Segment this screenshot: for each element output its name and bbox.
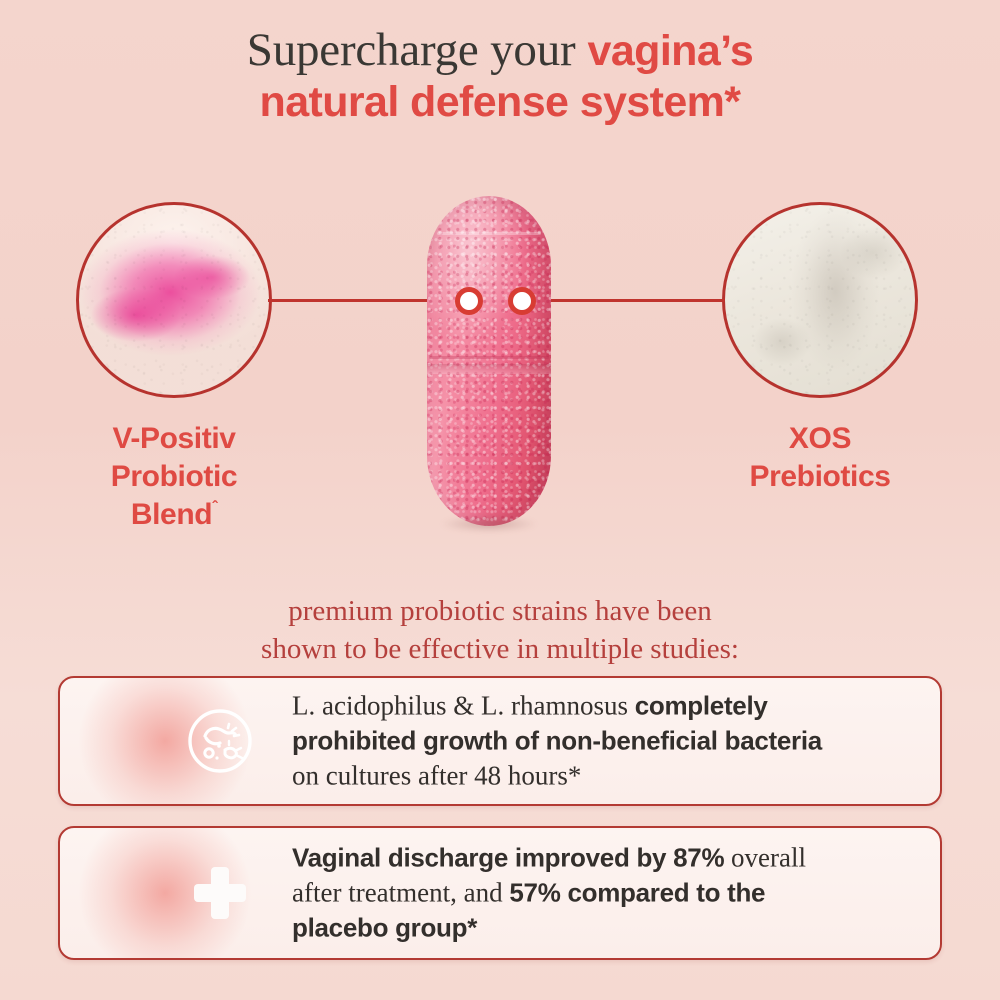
fact-card-text: Vaginal discharge improved by 87% overal… xyxy=(292,840,918,945)
fact-line: L. acidophilus & L. rhamnosus completely xyxy=(292,688,918,723)
fact-line: Vaginal discharge improved by 87% overal… xyxy=(292,840,918,875)
xos-prebiotic-image xyxy=(722,202,918,398)
headline-line-1: Supercharge your vagina’s xyxy=(0,26,1000,76)
fact-line: on cultures after 48 hours* xyxy=(292,759,918,794)
connector-line-right xyxy=(534,299,724,302)
probiotic-label-line-1: V-Positiv xyxy=(112,422,235,455)
cross-shape xyxy=(194,867,246,919)
bacteria-circle-icon xyxy=(178,699,262,783)
headline-red-text-2: natural defense system* xyxy=(0,80,1000,126)
xos-prebiotics-label: XOS Prebiotics xyxy=(690,420,950,496)
fact-line: prohibited growth of non-beneficial bact… xyxy=(292,723,918,758)
capsule-drop-shadow xyxy=(441,516,537,532)
probiotic-label-line-3: Blend xyxy=(131,498,212,531)
capsule-image xyxy=(427,196,551,526)
fact-text-bold: placebo group* xyxy=(292,913,477,943)
prebiotic-label-line-2: Prebiotics xyxy=(749,460,890,493)
fact-text-bold: completely xyxy=(635,690,768,720)
fact-line: placebo group* xyxy=(292,911,918,946)
trademark-mark: ˆ xyxy=(212,499,217,516)
headline-red-text-1: vagina’s xyxy=(588,27,754,75)
fact-text-regular: on cultures after 48 hours* xyxy=(292,761,581,791)
connector-node-left xyxy=(455,287,483,315)
fact-text-regular: after treatment, and xyxy=(292,877,509,907)
subheadline: premium probiotic strains have been show… xyxy=(0,592,1000,669)
fact-text-bold: prohibited growth of non-beneficial bact… xyxy=(292,725,822,755)
probiotic-blend-image xyxy=(76,202,272,398)
medical-cross-icon xyxy=(178,851,262,935)
capsule-speckle-texture xyxy=(427,196,551,526)
capsule-seam xyxy=(427,364,551,374)
subheadline-line-2: shown to be effective in multiple studie… xyxy=(0,630,1000,668)
fact-line: after treatment, and 57% compared to the xyxy=(292,875,918,910)
headline-dark-text: Supercharge your xyxy=(247,24,576,76)
subheadline-line-1: premium probiotic strains have been xyxy=(0,592,1000,630)
capsule-cap-edge xyxy=(429,356,549,359)
fact-card-text: L. acidophilus & L. rhamnosus completely… xyxy=(292,688,918,793)
probiotic-label-line-2: Probiotic xyxy=(111,460,237,493)
prebiotic-label-line-1: XOS xyxy=(789,422,851,455)
capsule-top-highlight xyxy=(437,232,541,235)
capsule-body xyxy=(427,196,551,526)
probiotic-blend-label: V-Positiv Probiotic Blendˆ xyxy=(24,420,324,533)
promo-graphic-page: Supercharge your vagina’s natural defens… xyxy=(0,0,1000,1000)
cross-horizontal-bar xyxy=(194,884,246,902)
fact-text-regular: overall xyxy=(724,842,806,872)
fact-card: L. acidophilus & L. rhamnosus completely… xyxy=(58,676,942,806)
fact-card: Vaginal discharge improved by 87% overal… xyxy=(58,826,942,960)
page-headline: Supercharge your vagina’s natural defens… xyxy=(0,26,1000,125)
fact-text-bold: 57% compared to the xyxy=(509,877,765,907)
fact-text-regular: L. acidophilus & L. rhamnosus xyxy=(292,690,635,720)
connector-node-right xyxy=(508,287,536,315)
fact-text-bold: Vaginal discharge improved by 87% xyxy=(292,842,724,872)
